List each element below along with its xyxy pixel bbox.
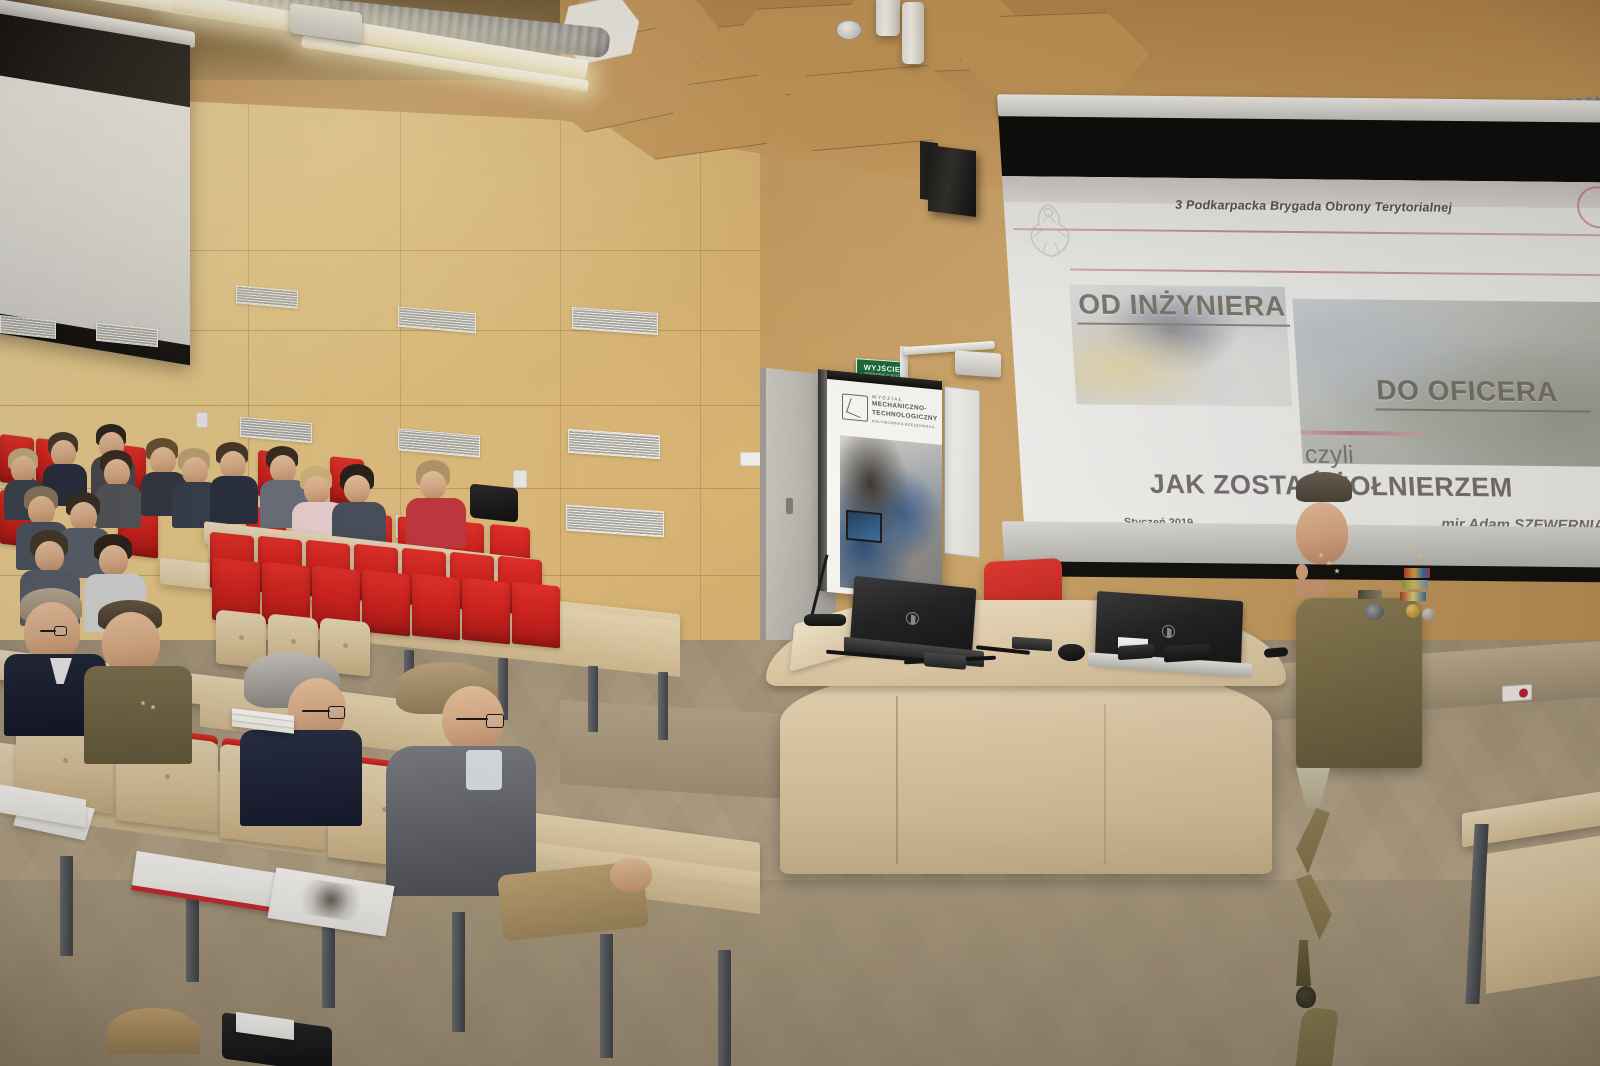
head: [344, 475, 370, 503]
shirt: [466, 750, 502, 790]
wall-switch-plate[interactable]: [513, 470, 527, 488]
faculty-monogram-icon: [842, 393, 868, 422]
presenter-officer: [1296, 472, 1464, 884]
rank-star-icon: [1408, 544, 1414, 550]
screen-masking-top: [998, 116, 1600, 182]
seat[interactable]: [462, 577, 510, 644]
eyeglasses-icon: [328, 706, 345, 719]
head: [270, 455, 296, 483]
torso: [95, 484, 141, 528]
jacket-lapel-left: [1296, 808, 1330, 874]
head: [104, 459, 130, 487]
wall-projector: [955, 350, 1001, 377]
ear: [1296, 564, 1308, 580]
head: [24, 602, 80, 662]
av-device[interactable]: [1118, 644, 1154, 661]
desk-leg: [600, 934, 613, 1058]
projection-screen-blank[interactable]: [0, 11, 190, 366]
desk-leg: [452, 912, 465, 1032]
wall-switch-plate[interactable]: [196, 412, 208, 428]
torso: [406, 498, 466, 548]
unit-patch-icon: [1296, 986, 1316, 1008]
torso: [84, 666, 192, 764]
screen-surface-blank: [0, 73, 190, 346]
head: [220, 451, 246, 479]
torso: [240, 730, 362, 826]
neck: [1296, 580, 1326, 598]
hand: [610, 858, 652, 892]
whiteboard: [944, 386, 980, 558]
dell-logo-icon: [905, 612, 919, 626]
projection-screen-main[interactable]: 3 Podkarpacka Brygada Obrony Terytorialn…: [975, 96, 1600, 582]
head: [99, 545, 128, 576]
head: [304, 476, 330, 504]
rank-star-icon: [1334, 568, 1340, 574]
service-medal-icon: [1400, 592, 1426, 601]
computer-mouse[interactable]: [1058, 644, 1085, 661]
badge-icon: [1358, 590, 1382, 599]
slide-headline-2: DO OFICERA: [1375, 374, 1558, 408]
eyeglasses-temple: [456, 718, 488, 720]
seat[interactable]: [512, 581, 560, 648]
ceiling-speaker-icon: [836, 20, 862, 40]
slide-divider: [1013, 228, 1600, 236]
uniform-shirt: [1296, 768, 1330, 808]
door-handle[interactable]: [786, 498, 793, 514]
lecture-hall-scene: 3 Podkarpacka Brygada Obrony Terytorialn…: [0, 0, 1600, 1066]
dell-logo-icon: [1162, 625, 1175, 639]
desk-leg: [588, 666, 598, 732]
wall-power-socket[interactable]: [1502, 684, 1532, 702]
wall-speaker-icon: [928, 145, 976, 217]
service-medal-icon: [1402, 580, 1428, 589]
av-device[interactable]: [1164, 643, 1210, 662]
pendant-light: [902, 2, 924, 64]
badge-icon: [1364, 604, 1384, 620]
head: [35, 541, 64, 572]
rank-star-icon: [1416, 552, 1422, 558]
desk-leg: [658, 672, 668, 740]
banner-text-block: WYDZIAŁ MECHANICZNO- TECHNOLOGICZNY POLI…: [872, 394, 938, 430]
slide-headline-1: OD INŻYNIERA: [1077, 289, 1286, 323]
head: [51, 440, 76, 467]
head: [102, 612, 160, 674]
lectern-front-panel: [780, 662, 1272, 874]
head: [182, 457, 208, 485]
head: [28, 496, 55, 525]
lectern-panel-seam: [896, 696, 898, 864]
rollup-banner: WYDZIAŁ MECHANICZNO- TECHNOLOGICZNY POLI…: [818, 369, 942, 603]
hair: [108, 1008, 200, 1054]
hair: [1296, 472, 1352, 502]
medal-disc-icon: [1422, 608, 1435, 621]
eyeglasses-temple: [302, 710, 330, 712]
head: [11, 456, 36, 483]
eyeglasses-icon: [486, 714, 504, 728]
banner-photo: [840, 435, 942, 597]
uniform-jacket: [1296, 598, 1422, 768]
head: [150, 447, 176, 475]
microphone-base: [804, 614, 846, 626]
desk-leg: [60, 856, 73, 956]
eyeglasses-bridge: [40, 630, 56, 632]
seat[interactable]: [412, 573, 460, 640]
pendant-light: [876, 0, 900, 36]
wall-switch-plate[interactable]: [740, 452, 762, 466]
service-medal-icon: [1404, 568, 1430, 578]
laptop-bag: [470, 483, 518, 522]
head: [420, 471, 446, 499]
torso: [210, 476, 258, 524]
desk-leg: [718, 950, 731, 1066]
slide-divider: [1070, 269, 1600, 277]
head: [70, 502, 97, 531]
lectern-panel-seam: [1104, 704, 1106, 864]
medal-disc-icon: [1406, 604, 1420, 618]
banner-photo-monitor: [846, 510, 882, 543]
